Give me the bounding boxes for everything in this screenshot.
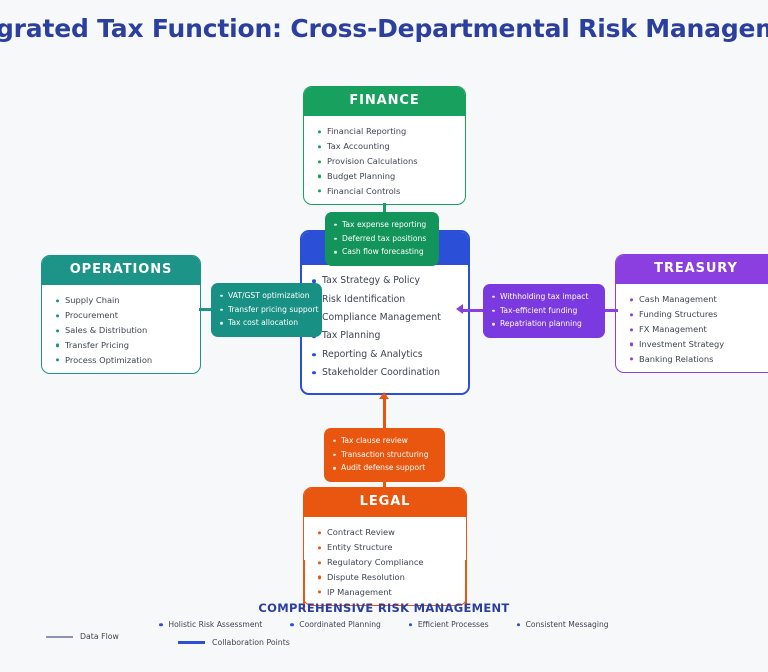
footer-point: Consistent Messaging [517,620,609,629]
list-item: Contract Review [316,525,456,540]
list-item: Reporting & Analytics [310,345,460,363]
flow-item: Repatriation planning [491,318,596,332]
list-item: Process Optimization [54,353,190,368]
legend-label: Data Flow [80,632,119,641]
list-item: Dispute Resolution [316,570,456,585]
diagram-canvas: Integrated Tax Function: Cross-Departmen… [0,0,768,672]
flow-item: VAT/GST optimization [219,289,313,303]
list-item: Tax Accounting [316,139,455,154]
card-body-treasury: Cash Management Funding Structures FX Ma… [616,284,768,373]
list-item: Supply Chain [54,293,190,308]
list-item: Financial Controls [316,184,455,199]
card-header-finance: FINANCE [304,87,465,116]
department-card-operations[interactable]: OPERATIONS Supply Chain Procurement Sale… [41,255,201,374]
list-item: Cash Management [628,292,766,307]
footer-point: Efficient Processes [409,620,489,629]
card-body-legal: Contract Review Entity Structure Regulat… [304,517,466,606]
flow-item: Withholding tax impact [491,290,596,304]
arrow-legal-icon [379,392,389,399]
list-item: Entity Structure [316,540,456,555]
list-item: Procurement [54,308,190,323]
flow-item: Tax expense reporting [333,218,430,232]
list-item: Sales & Distribution [54,323,190,338]
footer-title: COMPREHENSIVE RISK MANAGEMENT [0,601,768,615]
footer-points: Holistic Risk Assessment Coordinated Pla… [0,620,768,629]
list-item: Stakeholder Coordination [310,364,460,382]
legend-line-swatch [178,641,205,644]
flow-item: Audit defense support [332,462,436,476]
card-body-operations: Supply Chain Procurement Sales & Distrib… [42,285,200,374]
legend-item-collaboration-points: Collaboration Points [178,638,290,647]
flow-label-operations: VAT/GST optimization Transfer pricing su… [211,283,322,337]
card-body-finance: Financial Reporting Tax Accounting Provi… [304,116,465,205]
list-item: Provision Calculations [316,154,455,169]
list-item: Regulatory Compliance [316,555,456,570]
list-item: Banking Relations [628,352,766,367]
list-item: Transfer Pricing [54,338,190,353]
department-card-legal[interactable]: LEGAL Contract Review Entity Structure R… [303,487,467,606]
list-item: Risk Identification [310,290,460,308]
flow-item: Cash flow forecasting [333,246,430,260]
list-item: IP Management [316,585,456,600]
list-item: Funding Structures [628,307,766,322]
card-header-operations: OPERATIONS [42,256,200,285]
footer-point: Coordinated Planning [290,620,381,629]
legend-line-swatch [46,636,73,638]
flow-label-finance: Tax expense reporting Deferred tax posit… [325,212,439,266]
card-header-legal: LEGAL [304,488,466,517]
flow-item: Transaction structuring [332,448,436,462]
list-item: Tax Strategy & Policy [310,272,460,290]
department-card-finance[interactable]: FINANCE Financial Reporting Tax Accounti… [303,86,466,205]
flow-item: Deferred tax positions [333,232,430,246]
legend-label: Collaboration Points [212,638,290,647]
list-item: Budget Planning [316,169,455,184]
flow-label-treasury: Withholding tax impact Tax-efficient fun… [483,284,605,338]
arrow-treasury-icon [456,304,463,314]
central-card-body: Tax Strategy & Policy Risk Identificatio… [302,265,468,390]
list-item: FX Management [628,322,766,337]
legend-item-data-flow: Data Flow [46,632,119,641]
flow-item: Tax-efficient funding [491,304,596,318]
page-title: Integrated Tax Function: Cross-Departmen… [0,14,768,43]
list-item: Investment Strategy [628,337,766,352]
department-card-treasury[interactable]: TREASURY Cash Management Funding Structu… [615,254,768,373]
footer-point: Holistic Risk Assessment [159,620,262,629]
flow-item: Tax clause review [332,434,436,448]
flow-item: Tax cost allocation [219,317,313,331]
card-header-treasury: TREASURY [616,255,768,284]
list-item: Financial Reporting [316,124,455,139]
flow-label-legal: Tax clause review Transaction structurin… [324,428,445,482]
list-item: Compliance Management [310,309,460,327]
flow-item: Transfer pricing support [219,303,313,317]
list-item: Tax Planning [310,327,460,345]
